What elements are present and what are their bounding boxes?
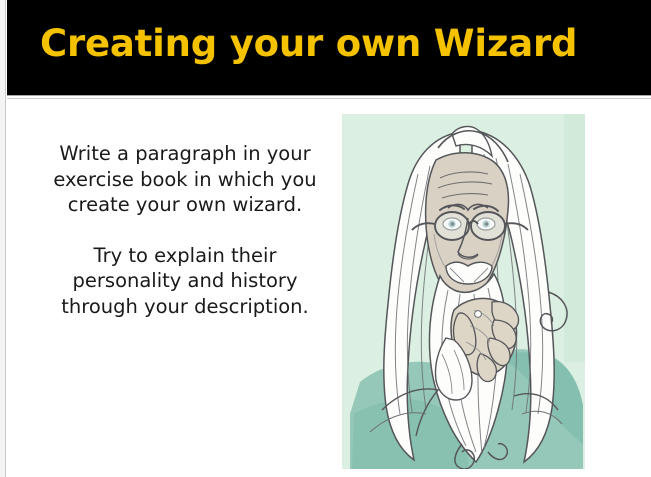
page-title: Creating your own Wizard — [40, 21, 577, 67]
wizard-drawing-svg — [342, 114, 585, 469]
slide-title-bar: Creating your own Wizard — [7, 0, 651, 95]
wizard-illustration — [342, 114, 585, 469]
title-divider — [7, 95, 651, 99]
body-paragraph-2: Try to explain their personality and his… — [46, 243, 324, 320]
background-tone-right — [564, 114, 585, 362]
body-text-block: Write a paragraph in your exercise book … — [46, 141, 324, 319]
ring-highlight — [475, 311, 482, 318]
paragraph-spacer — [46, 218, 324, 243]
slide-left-gutter — [0, 0, 6, 477]
slide-canvas: Creating your own Wizard Write a paragra… — [0, 0, 651, 477]
body-paragraph-1: Write a paragraph in your exercise book … — [46, 141, 324, 218]
